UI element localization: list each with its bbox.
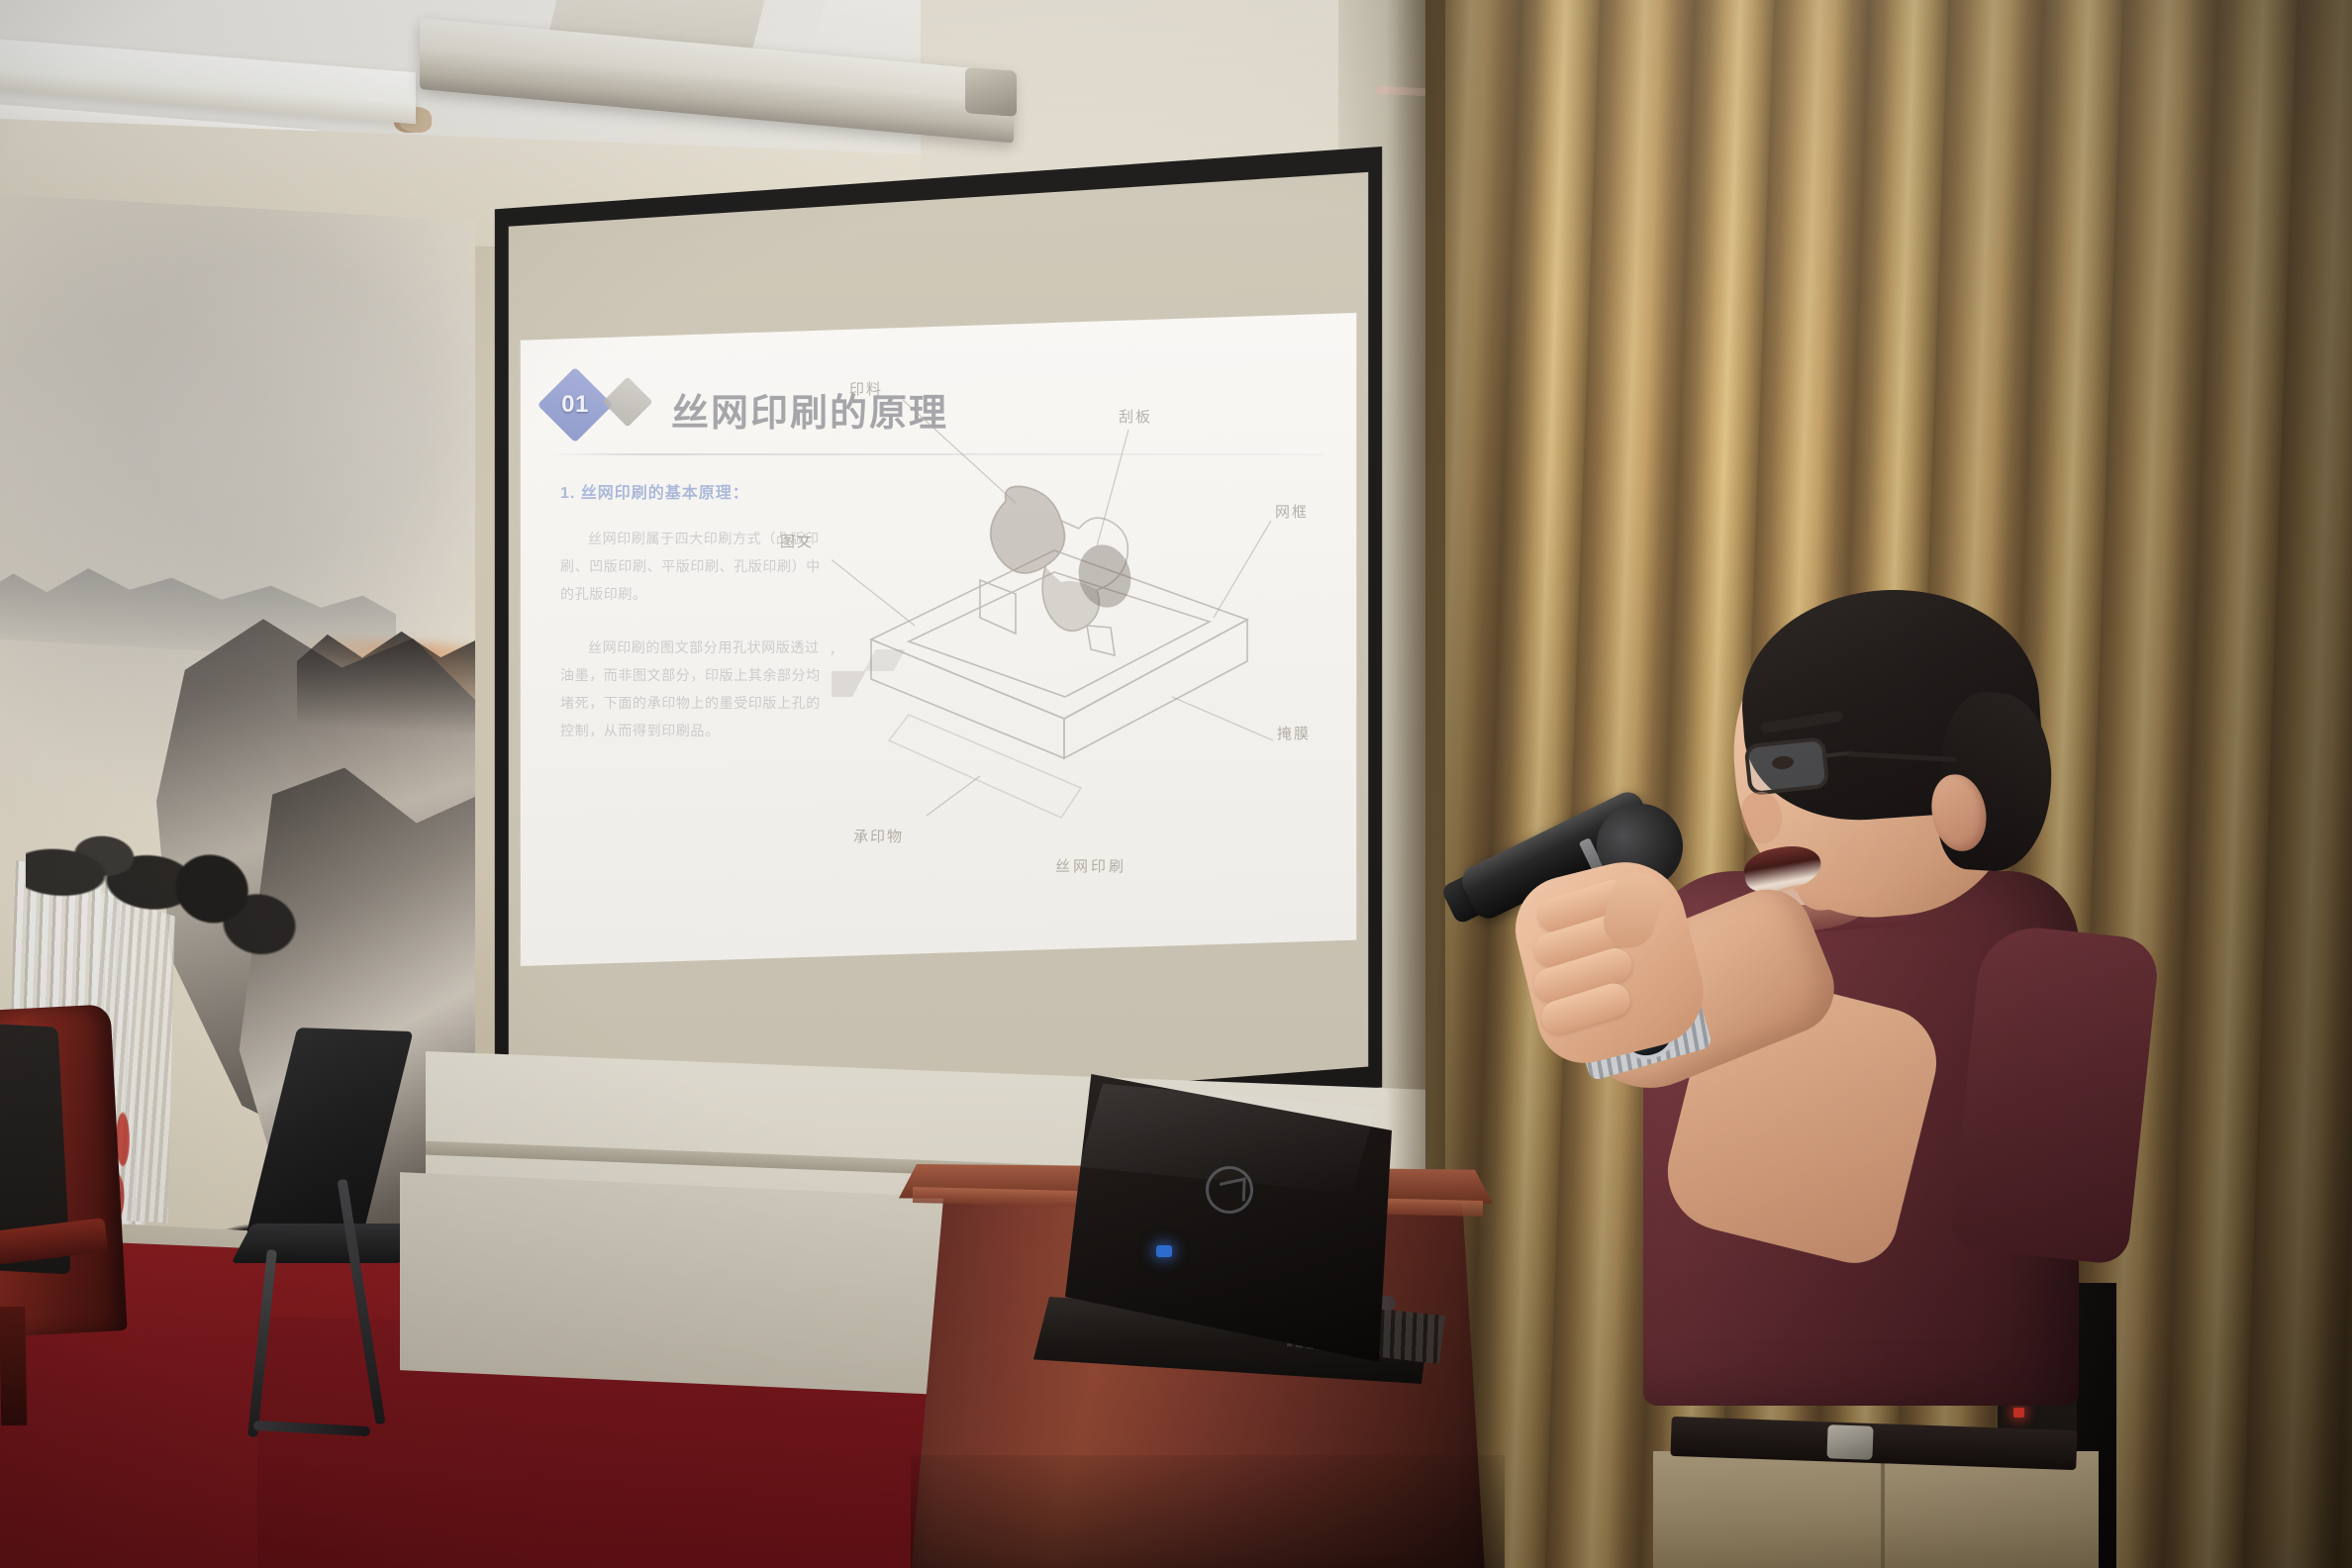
diagram-label-substrate: 承印物 [853,826,904,846]
podium-shadow [911,1455,1505,1568]
armchair-leg [0,1307,27,1425]
slide-subheading: 1. 丝网印刷的基本原理： [560,479,826,503]
belt-buckle [1826,1424,1873,1460]
rack-red-led-icon-2 [2013,1408,2024,1418]
folding-chair-back [246,1028,414,1239]
folding-chair[interactable] [234,1029,412,1425]
mural-pine-tree [148,826,307,983]
diagram-label-screen-frame: 网框 [1275,501,1309,522]
folding-chair-leg-front [247,1249,277,1437]
slide-paragraph-2: 丝网印刷的图文部分用孔状网版透过油墨，而非图文部分，印版上其余部分均堵死，下面的… [560,634,826,744]
presenter-trousers [1653,1451,2099,1568]
presenter-right-sleeve [1949,922,2161,1265]
trouser-seam [1881,1455,1885,1568]
diagram-label-mask: 掩膜 [1277,723,1311,743]
diagram-caption: 丝网印刷 [1055,855,1127,876]
diagram-label-ink: 印料 [849,378,883,399]
slide-body-text: 1. 丝网印刷的基本原理： 丝网印刷属于四大印刷方式（凸版印刷、凹版印刷、平版印… [560,479,826,770]
folding-chair-seat [231,1224,422,1263]
laptop-power-led-icon [1156,1245,1172,1257]
screen-housing-end-cap [965,67,1017,117]
presentation-room-photo: 01 丝网印刷的原理 1. 丝网印刷的基本原理： 丝网印刷属于四大印刷方式（凸版… [0,0,2352,1568]
wooden-armchair[interactable] [0,1004,128,1337]
diagram-label-image-text: 图文 [780,531,814,551]
slide-section-number: 01 [548,378,602,432]
screen-printing-diagram: 印料 刮板 图文 网框 掩膜 承印物 丝网印刷 [832,352,1336,946]
projected-slide: 01 丝网印刷的原理 1. 丝网印刷的基本原理： 丝网印刷属于四大印刷方式（凸版… [519,313,1358,966]
diagram-label-squeegee: 刮板 [1119,406,1152,427]
diamond-accent-icon [603,377,653,428]
